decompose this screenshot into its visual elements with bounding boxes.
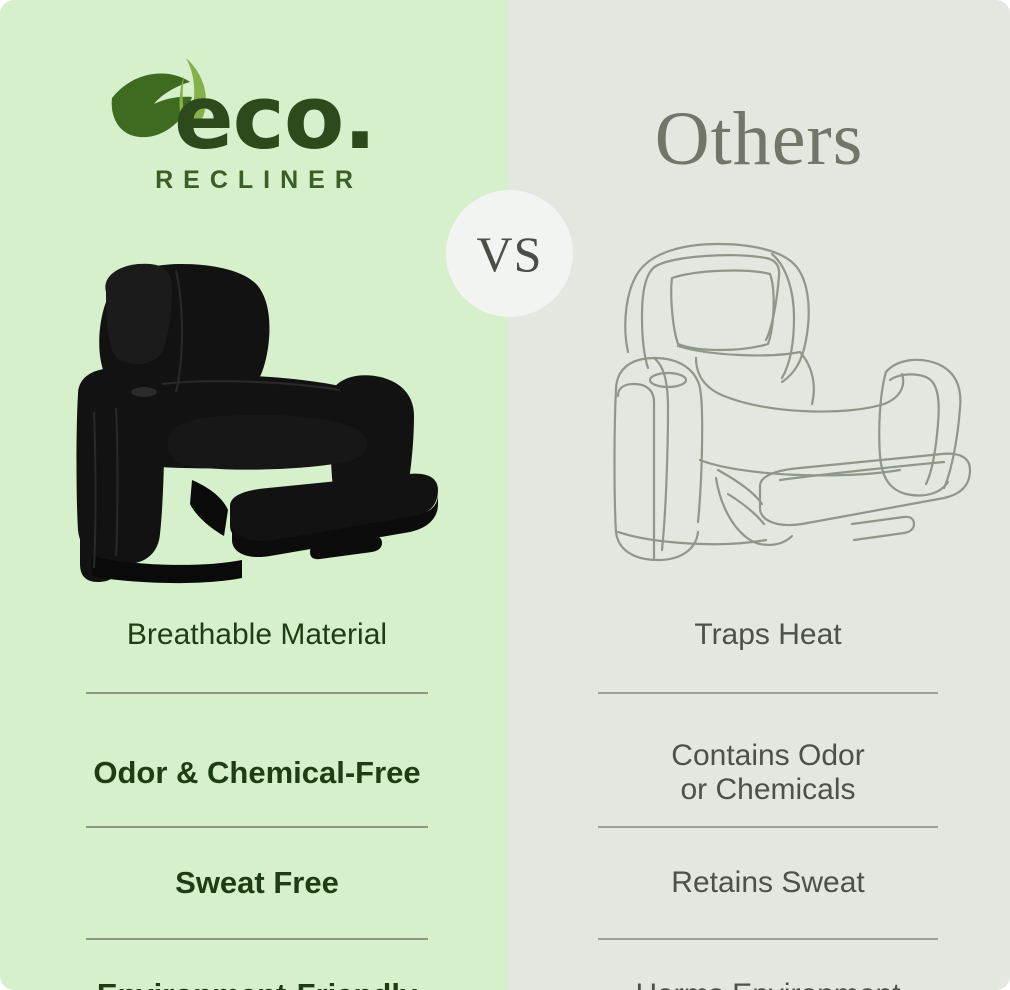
others-heading: Others (508, 96, 1010, 183)
feature-row: Harms Environment (598, 964, 938, 990)
brand-wordmark: eco. (174, 74, 414, 162)
feature-label: Environment-Friendly (97, 977, 417, 990)
spacer (86, 940, 428, 964)
feature-label: Harms Environment (635, 978, 900, 990)
feature-label: Sweat Free (175, 865, 339, 901)
feature-row: Retains Sweat (598, 852, 938, 914)
spacer (598, 694, 938, 720)
feature-label-line1: Contains Odor (671, 739, 864, 772)
spacer (86, 694, 428, 720)
feature-row: Traps Heat (598, 604, 938, 666)
spacer (598, 940, 938, 964)
eco-recliner-image (72, 248, 462, 588)
feature-row: Contains Odor or Chemicals (598, 720, 938, 826)
spacer (86, 914, 428, 938)
others-recliner-image (600, 232, 1000, 577)
vs-badge: VS (446, 190, 573, 317)
spacer (86, 666, 428, 692)
spacer (598, 666, 938, 692)
feature-row: Breathable Material (86, 604, 428, 666)
feature-label: Odor & Chemical-Free (93, 755, 420, 791)
feature-label: Breathable Material (127, 618, 387, 653)
comparison-infographic: eco. RECLINER Others VS (0, 0, 1010, 990)
spacer (598, 914, 938, 938)
feature-row: Environment-Friendly (86, 964, 428, 990)
feature-label: Retains Sweat (671, 866, 864, 901)
vs-label: VS (477, 229, 543, 279)
feature-row: Odor & Chemical-Free (86, 720, 428, 826)
eco-feature-list: Breathable Material Odor & Chemical-Free… (86, 604, 428, 990)
others-feature-list: Traps Heat Contains Odor or Chemicals Re… (598, 604, 938, 990)
spacer (86, 828, 428, 852)
spacer (598, 828, 938, 852)
feature-label: Contains Odor or Chemicals (671, 739, 864, 808)
eco-brand-logo: eco. RECLINER (0, 52, 508, 195)
feature-row: Sweat Free (86, 852, 428, 914)
feature-label: Traps Heat (694, 618, 841, 653)
feature-label-line2: or Chemicals (680, 773, 855, 806)
